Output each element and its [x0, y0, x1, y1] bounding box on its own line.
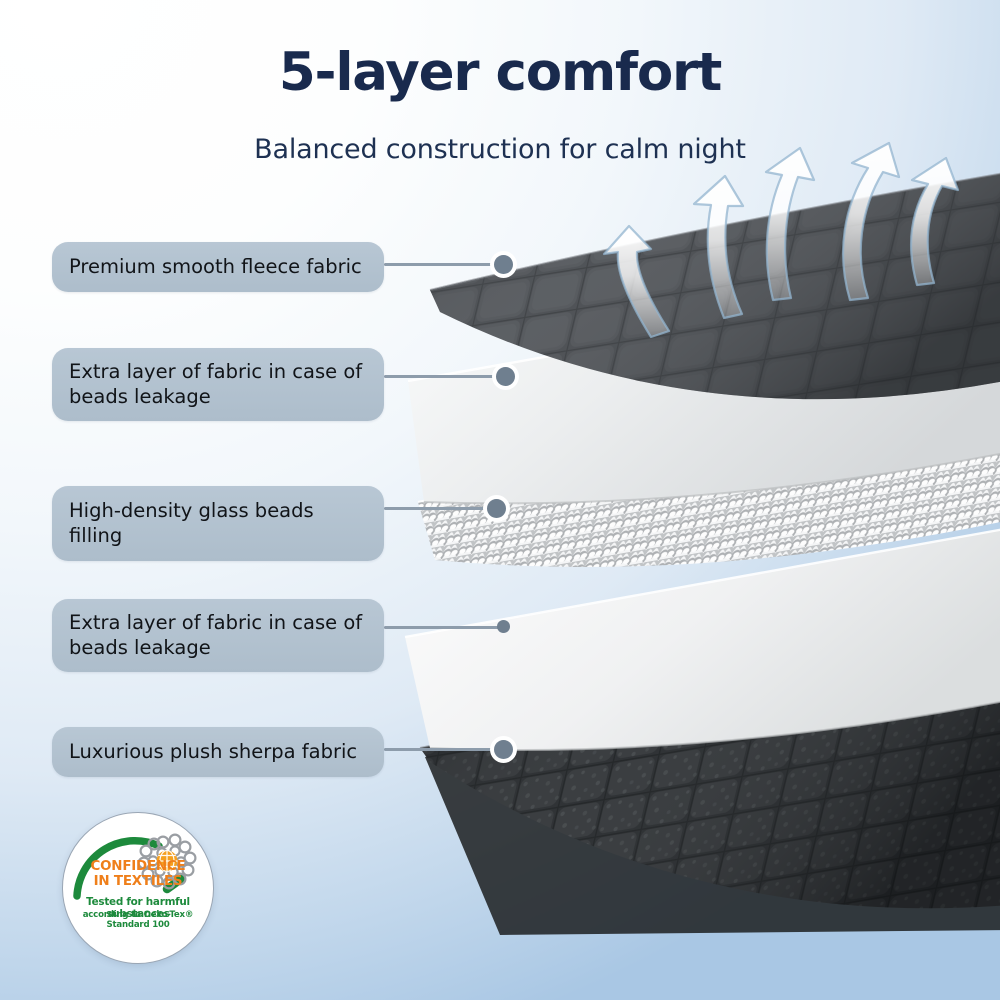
leader-line-5	[384, 748, 497, 751]
leader-dot-3	[487, 499, 506, 518]
layer-label-2[interactable]: Extra layer of fabric in case of beads l…	[52, 348, 384, 421]
layer-label-4-line2: beads leakage	[69, 635, 367, 660]
leader-line-3	[384, 507, 490, 510]
layer-label-1-text: Premium smooth fleece fabric	[69, 255, 362, 278]
badge-title: CONFIDENCE IN TEXTILES	[63, 859, 213, 889]
badge-title-line1: CONFIDENCE	[63, 859, 213, 874]
page-subtitle: Balanced construction for calm night	[0, 134, 1000, 165]
infographic-canvas: 5-layer comfort Balanced construction fo…	[0, 0, 1000, 1000]
leader-line-4	[384, 626, 502, 629]
badge-title-line2: IN TEXTILES	[63, 874, 213, 889]
layer-label-5-text: Luxurious plush sherpa fabric	[69, 740, 357, 763]
oeko-tex-badge: CONFIDENCE IN TEXTILES Tested for harmfu…	[62, 812, 214, 964]
page-title: 5-layer comfort	[0, 46, 1000, 99]
layer-label-2-line1: Extra layer of fabric in case of	[69, 359, 367, 384]
leader-dot-4	[497, 620, 510, 633]
layer-label-4[interactable]: Extra layer of fabric in case of beads l…	[52, 599, 384, 672]
layer-label-1[interactable]: Premium smooth fleece fabric	[52, 242, 384, 292]
layer-label-5[interactable]: Luxurious plush sherpa fabric	[52, 727, 384, 777]
layer-label-2-line2: beads leakage	[69, 384, 367, 409]
layer-label-3-text: High-density glass beads filling	[69, 499, 314, 547]
leader-line-2	[384, 375, 502, 378]
leader-dot-2	[496, 367, 515, 386]
badge-standard: according to Oeko-Tex® Standard 100	[63, 910, 213, 930]
leader-line-1	[384, 263, 498, 266]
layer-label-4-line1: Extra layer of fabric in case of	[69, 610, 367, 635]
leader-dot-1	[494, 255, 513, 274]
leader-dot-5	[494, 740, 513, 759]
layer-label-3[interactable]: High-density glass beads filling	[52, 486, 384, 561]
